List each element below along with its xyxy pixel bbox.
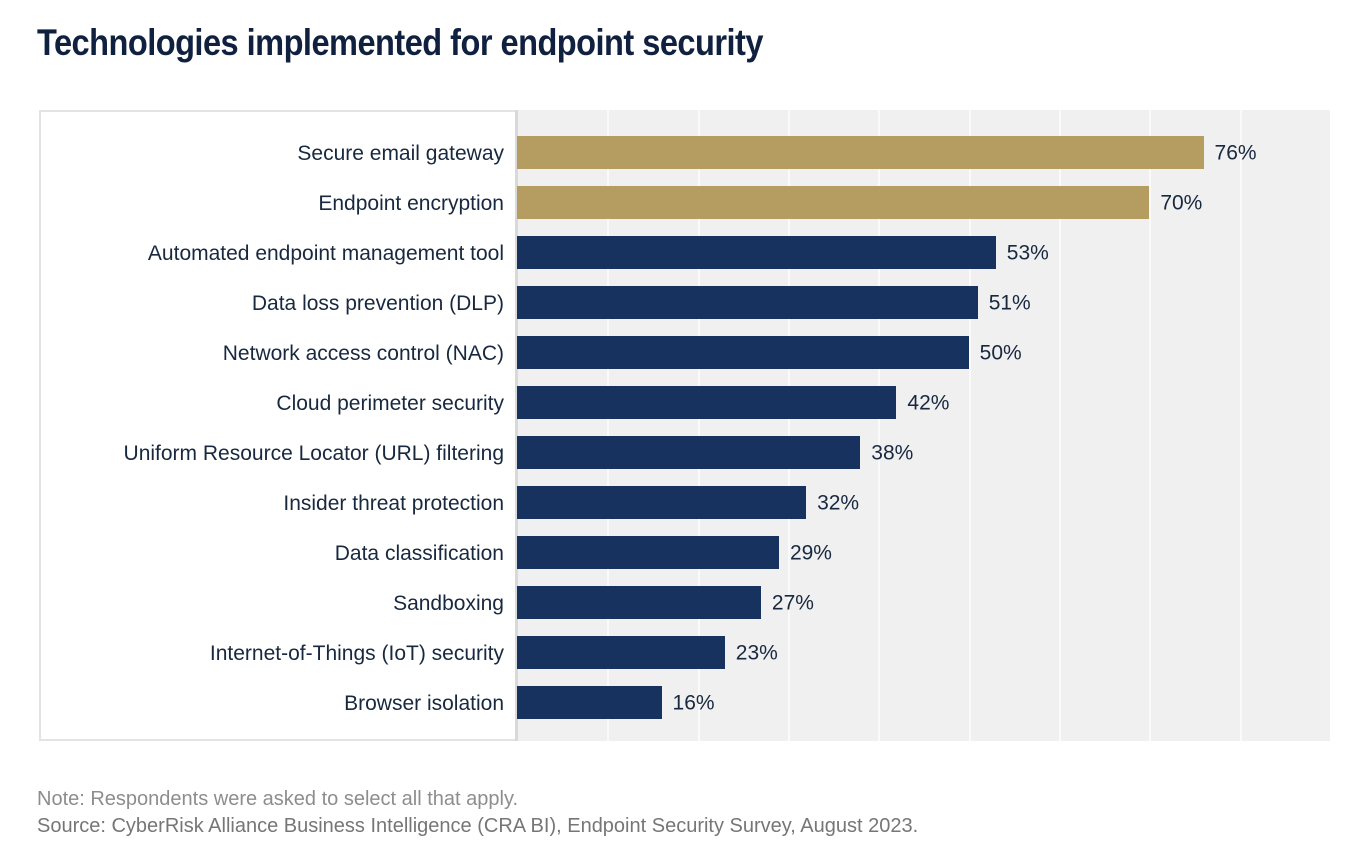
footer-note: Note: Respondents were asked to select a…: [37, 786, 1287, 813]
bar: [517, 536, 779, 569]
plot-area: Secure email gateway76%Endpoint encrypti…: [39, 110, 1330, 741]
bar: [517, 336, 969, 369]
bar-row: Secure email gateway76%: [39, 128, 1330, 178]
bar-value-label: 50%: [980, 343, 1022, 364]
bar-row: Internet-of-Things (IoT) security23%: [39, 628, 1330, 678]
category-label: Uniform Resource Locator (URL) filtering: [54, 443, 504, 464]
bar-value-label: 42%: [907, 393, 949, 414]
bar-row: Endpoint encryption70%: [39, 178, 1330, 228]
bar: [517, 686, 662, 719]
bar: [517, 636, 725, 669]
bar-row: Automated endpoint management tool53%: [39, 228, 1330, 278]
bar: [517, 186, 1149, 219]
category-label: Data classification: [54, 543, 504, 564]
chart-figure: Technologies implemented for endpoint se…: [0, 0, 1370, 868]
footer: Note: Respondents were asked to select a…: [37, 786, 1287, 840]
bar-row: Sandboxing27%: [39, 578, 1330, 628]
bar: [517, 236, 996, 269]
category-label: Browser isolation: [54, 693, 504, 714]
bar-row: Browser isolation16%: [39, 678, 1330, 728]
bar-value-label: 51%: [989, 293, 1031, 314]
footer-source: Source: CyberRisk Alliance Business Inte…: [37, 813, 1287, 840]
category-label: Sandboxing: [54, 593, 504, 614]
bar-row: Network access control (NAC)50%: [39, 328, 1330, 378]
bar-value-label: 16%: [673, 693, 715, 714]
page-title: Technologies implemented for endpoint se…: [37, 22, 1093, 65]
bar: [517, 436, 860, 469]
bar-row: Data loss prevention (DLP)51%: [39, 278, 1330, 328]
bar-value-label: 23%: [736, 643, 778, 664]
bar-row: Cloud perimeter security42%: [39, 378, 1330, 428]
bar-value-label: 76%: [1215, 143, 1257, 164]
bar: [517, 486, 806, 519]
category-label: Network access control (NAC): [54, 343, 504, 364]
category-label: Cloud perimeter security: [54, 393, 504, 414]
category-label: Data loss prevention (DLP): [54, 293, 504, 314]
bar-rows: Secure email gateway76%Endpoint encrypti…: [39, 110, 1330, 741]
bar: [517, 136, 1204, 169]
bar-value-label: 32%: [817, 493, 859, 514]
category-label: Automated endpoint management tool: [54, 243, 504, 264]
category-label: Insider threat protection: [54, 493, 504, 514]
bar: [517, 586, 761, 619]
bar-value-label: 27%: [772, 593, 814, 614]
bar-value-label: 70%: [1160, 193, 1202, 214]
bar-row: Data classification29%: [39, 528, 1330, 578]
bar: [517, 386, 896, 419]
bar: [517, 286, 978, 319]
category-label: Endpoint encryption: [54, 193, 504, 214]
bar-row: Insider threat protection32%: [39, 478, 1330, 528]
category-label: Internet-of-Things (IoT) security: [54, 643, 504, 664]
bar-value-label: 53%: [1007, 243, 1049, 264]
bar-value-label: 38%: [871, 443, 913, 464]
bar-value-label: 29%: [790, 543, 832, 564]
category-label: Secure email gateway: [54, 143, 504, 164]
bar-row: Uniform Resource Locator (URL) filtering…: [39, 428, 1330, 478]
